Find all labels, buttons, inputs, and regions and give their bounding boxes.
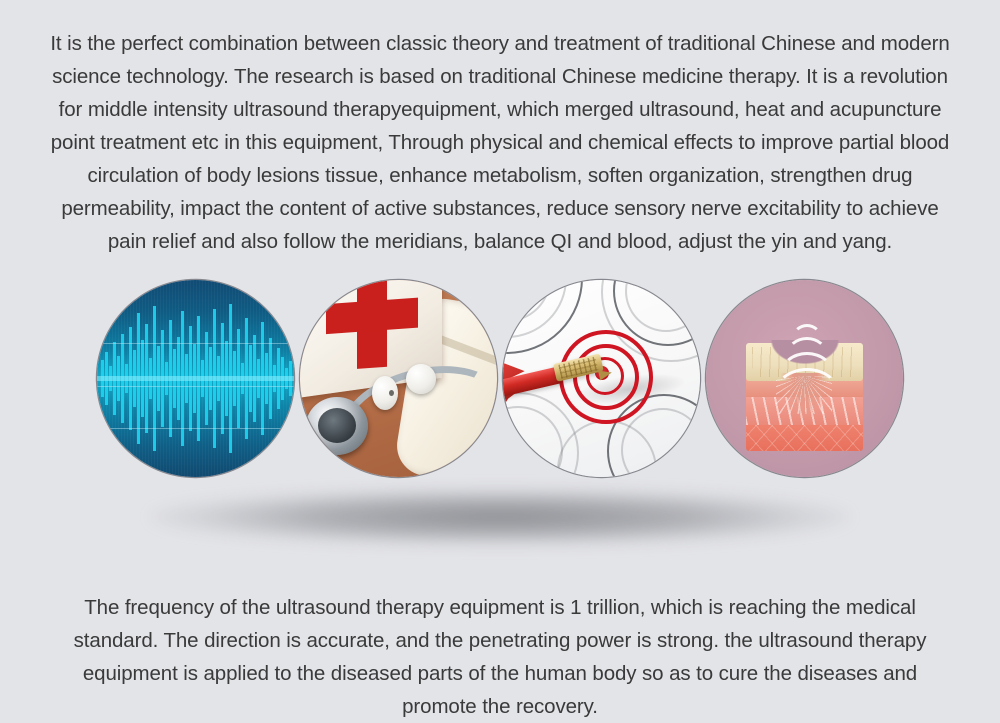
waveform-guide-line-top bbox=[97, 343, 294, 344]
circle-image-dart-bullseye bbox=[503, 280, 700, 477]
stethoscope-earpiece-left bbox=[372, 376, 398, 410]
top-description-paragraph: It is the perfect combination between cl… bbox=[0, 27, 1000, 258]
waveform-bars-icon bbox=[97, 280, 294, 477]
circle-image-ultrasound-waveform bbox=[97, 280, 294, 477]
waveform-guide-line-mid bbox=[97, 386, 294, 387]
waveform-guide-line-bottom bbox=[97, 428, 294, 429]
feature-circle-row bbox=[97, 280, 903, 478]
circle-row-shadow bbox=[150, 488, 850, 546]
bottom-description-paragraph: The frequency of the ultrasound therapy … bbox=[0, 591, 1000, 723]
product-description-page: It is the perfect combination between cl… bbox=[0, 0, 1000, 717]
stethoscope-chestpiece-icon bbox=[306, 397, 368, 455]
circle-image-skin-layers bbox=[706, 280, 903, 477]
red-cross-icon-bar bbox=[326, 298, 418, 334]
circle-image-first-aid-kit bbox=[300, 280, 497, 477]
ultrasound-wave-arc bbox=[792, 324, 822, 352]
stethoscope-earpiece-right bbox=[406, 364, 436, 394]
